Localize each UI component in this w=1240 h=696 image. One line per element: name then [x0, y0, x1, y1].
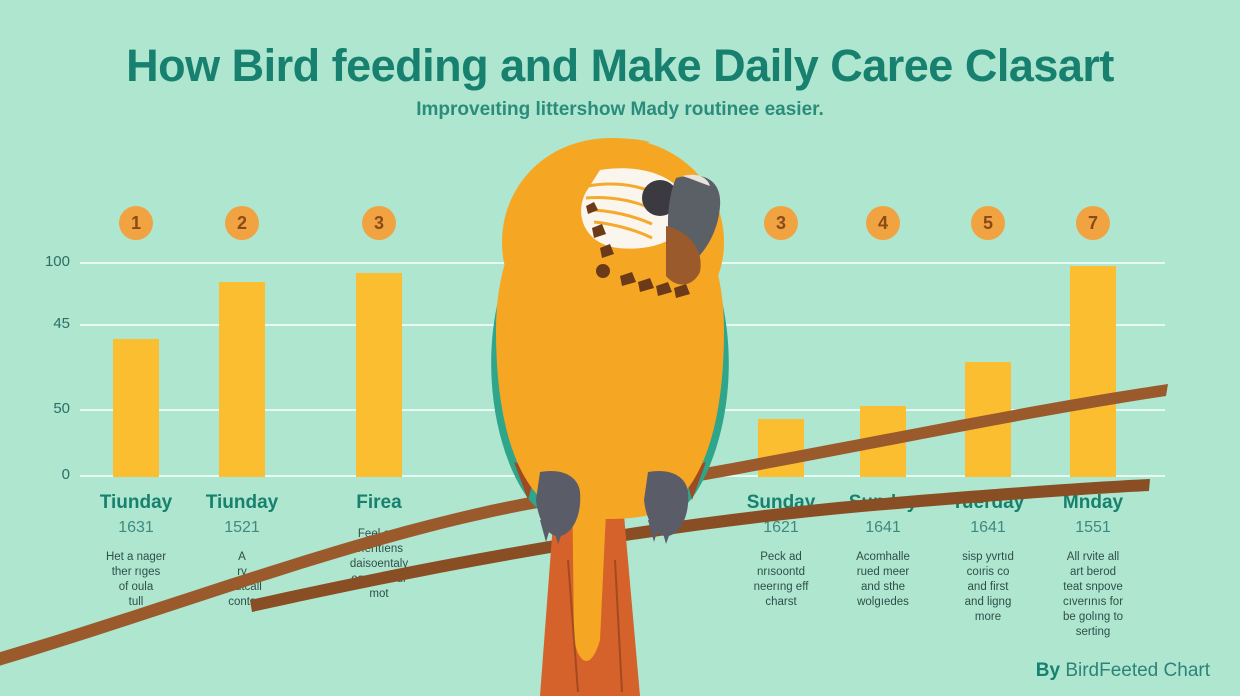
column-caption: Mnday1551All rvite allart berodteat snpo… — [1018, 492, 1168, 640]
step-badge[interactable]: 3 — [362, 206, 396, 240]
bird-foot-left-toes — [540, 520, 566, 544]
bar[interactable] — [219, 282, 265, 477]
bird-tail-line-left — [568, 560, 578, 692]
step-badge[interactable]: 3 — [764, 206, 798, 240]
poster: How Bird feeding and Make Daily Caree Cl… — [0, 0, 1240, 696]
bar[interactable] — [965, 362, 1011, 477]
bar[interactable] — [860, 406, 906, 477]
bird-eye-patch — [581, 168, 688, 248]
footer-brand: BirdFeeted Chart — [1065, 660, 1210, 681]
column-description: Arynoutcallconts — [167, 550, 317, 610]
bar[interactable] — [758, 419, 804, 477]
column-description: Feel ouroıerıtıensdaisoentalyogaed rourm… — [304, 527, 454, 602]
column-description: All rvite allart berodteat snpovecıverın… — [1018, 550, 1168, 640]
bar[interactable] — [1070, 266, 1116, 477]
column-day-label: Tiunday — [167, 492, 317, 514]
bird-foot-right — [644, 471, 688, 536]
y-axis-tick-label: 100 — [8, 253, 70, 270]
column-day-label: Mnday — [1018, 492, 1168, 514]
step-badge[interactable]: 5 — [971, 206, 1005, 240]
footer-prefix: By — [1036, 660, 1060, 681]
bar[interactable] — [356, 273, 402, 477]
bird-foot-right-toes — [648, 520, 674, 544]
bird-foot-left — [536, 471, 580, 536]
bird-crest — [560, 139, 650, 172]
y-axis-tick-label: 50 — [8, 400, 70, 417]
bird-tail-line-right — [615, 560, 622, 692]
column-caption: FireaFeel ouroıerıtıensdaisoentalyogaed … — [304, 492, 454, 602]
bird-eye-patch-stripes — [586, 184, 652, 238]
gridline — [80, 262, 1165, 264]
y-axis-tick-label: 45 — [8, 315, 70, 332]
footer-credit: By BirdFeeted Chart — [1036, 660, 1210, 682]
step-badge[interactable]: 1 — [119, 206, 153, 240]
bird-tail — [540, 470, 640, 696]
bar[interactable] — [113, 339, 159, 477]
column-caption: Tiunday1521Arynoutcallconts — [167, 492, 317, 610]
bird-eye — [642, 180, 678, 216]
bird-beak-highlight — [682, 175, 710, 186]
column-number: 1551 — [1018, 519, 1168, 537]
step-badge[interactable]: 4 — [866, 206, 900, 240]
page-subtitle: Improveıting littershow Mady routinee ea… — [0, 99, 1240, 121]
bar-chart-plot-area — [80, 255, 1165, 477]
bird-tail-center — [572, 470, 608, 661]
step-badge[interactable]: 7 — [1076, 206, 1110, 240]
y-axis-tick-label: 0 — [8, 466, 70, 483]
column-number: 1521 — [167, 519, 317, 537]
page-title: How Bird feeding and Make Daily Caree Cl… — [0, 40, 1240, 92]
step-badge[interactable]: 2 — [225, 206, 259, 240]
column-day-label: Firea — [304, 492, 454, 514]
